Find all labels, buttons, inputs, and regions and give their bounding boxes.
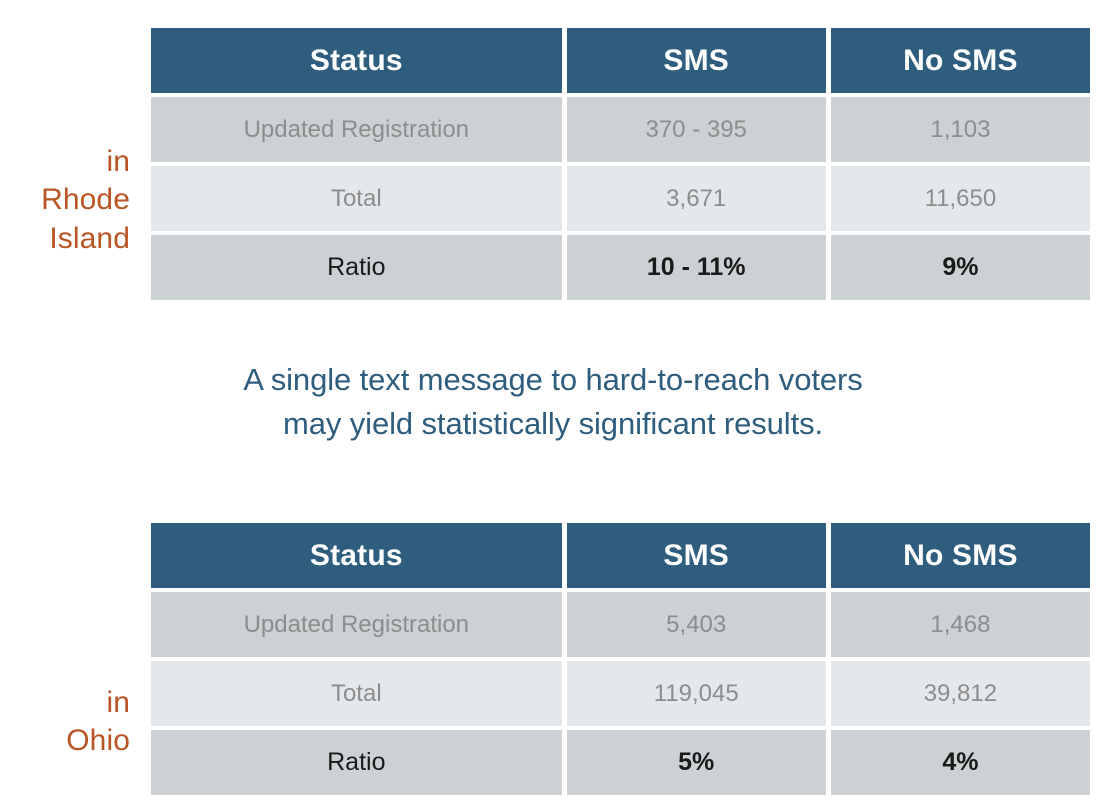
cell-no-sms: 39,812 bbox=[831, 661, 1090, 726]
table-header-row: Status SMS No SMS bbox=[151, 28, 1090, 93]
cell-status: Total bbox=[151, 661, 562, 726]
cell-no-sms: 9% bbox=[831, 235, 1090, 300]
slide-canvas: in Rhode Island Status SMS No SMS Update… bbox=[0, 0, 1106, 800]
column-header-status: Status bbox=[151, 28, 562, 93]
table-row: Updated Registration 370 - 395 1,103 bbox=[151, 97, 1090, 162]
column-header-sms: SMS bbox=[567, 523, 826, 588]
cell-sms: 3,671 bbox=[567, 166, 826, 231]
table-header: Status SMS No SMS bbox=[151, 523, 1090, 588]
cell-sms: 5,403 bbox=[567, 592, 826, 657]
cell-status: Total bbox=[151, 166, 562, 231]
table-row: Updated Registration 5,403 1,468 bbox=[151, 592, 1090, 657]
side-label-rhode-island: in Rhode Island bbox=[0, 143, 130, 258]
table-row: Total 119,045 39,812 bbox=[151, 661, 1090, 726]
cell-sms: 370 - 395 bbox=[567, 97, 826, 162]
cell-status: Ratio bbox=[151, 730, 562, 795]
side-label-ohio: in Ohio bbox=[0, 684, 130, 761]
table-header: Status SMS No SMS bbox=[151, 28, 1090, 93]
table-ohio: Status SMS No SMS Updated Registration 5… bbox=[146, 519, 1095, 799]
table-row: Ratio 5% 4% bbox=[151, 730, 1090, 795]
cell-no-sms: 1,468 bbox=[831, 592, 1090, 657]
cell-status: Ratio bbox=[151, 235, 562, 300]
table-body: Updated Registration 370 - 395 1,103 Tot… bbox=[151, 97, 1090, 300]
table-body: Updated Registration 5,403 1,468 Total 1… bbox=[151, 592, 1090, 795]
caption-line-1: A single text message to hard-to-reach v… bbox=[243, 362, 862, 397]
table-row: Ratio 10 - 11% 9% bbox=[151, 235, 1090, 300]
table-rhode-island: Status SMS No SMS Updated Registration 3… bbox=[146, 28, 1095, 304]
caption-line-2: may yield statistically significant resu… bbox=[283, 406, 823, 441]
data-table: Status SMS No SMS Updated Registration 3… bbox=[146, 24, 1095, 304]
column-header-no-sms: No SMS bbox=[831, 28, 1090, 93]
cell-status: Updated Registration bbox=[151, 97, 562, 162]
cell-no-sms: 11,650 bbox=[831, 166, 1090, 231]
caption-text: A single text message to hard-to-reach v… bbox=[103, 358, 1003, 446]
cell-no-sms: 4% bbox=[831, 730, 1090, 795]
table-header-row: Status SMS No SMS bbox=[151, 523, 1090, 588]
table-row: Total 3,671 11,650 bbox=[151, 166, 1090, 231]
data-table: Status SMS No SMS Updated Registration 5… bbox=[146, 519, 1095, 799]
column-header-sms: SMS bbox=[567, 28, 826, 93]
column-header-no-sms: No SMS bbox=[831, 523, 1090, 588]
cell-status: Updated Registration bbox=[151, 592, 562, 657]
column-header-status: Status bbox=[151, 523, 562, 588]
cell-sms: 5% bbox=[567, 730, 826, 795]
cell-sms: 10 - 11% bbox=[567, 235, 826, 300]
cell-sms: 119,045 bbox=[567, 661, 826, 726]
cell-no-sms: 1,103 bbox=[831, 97, 1090, 162]
